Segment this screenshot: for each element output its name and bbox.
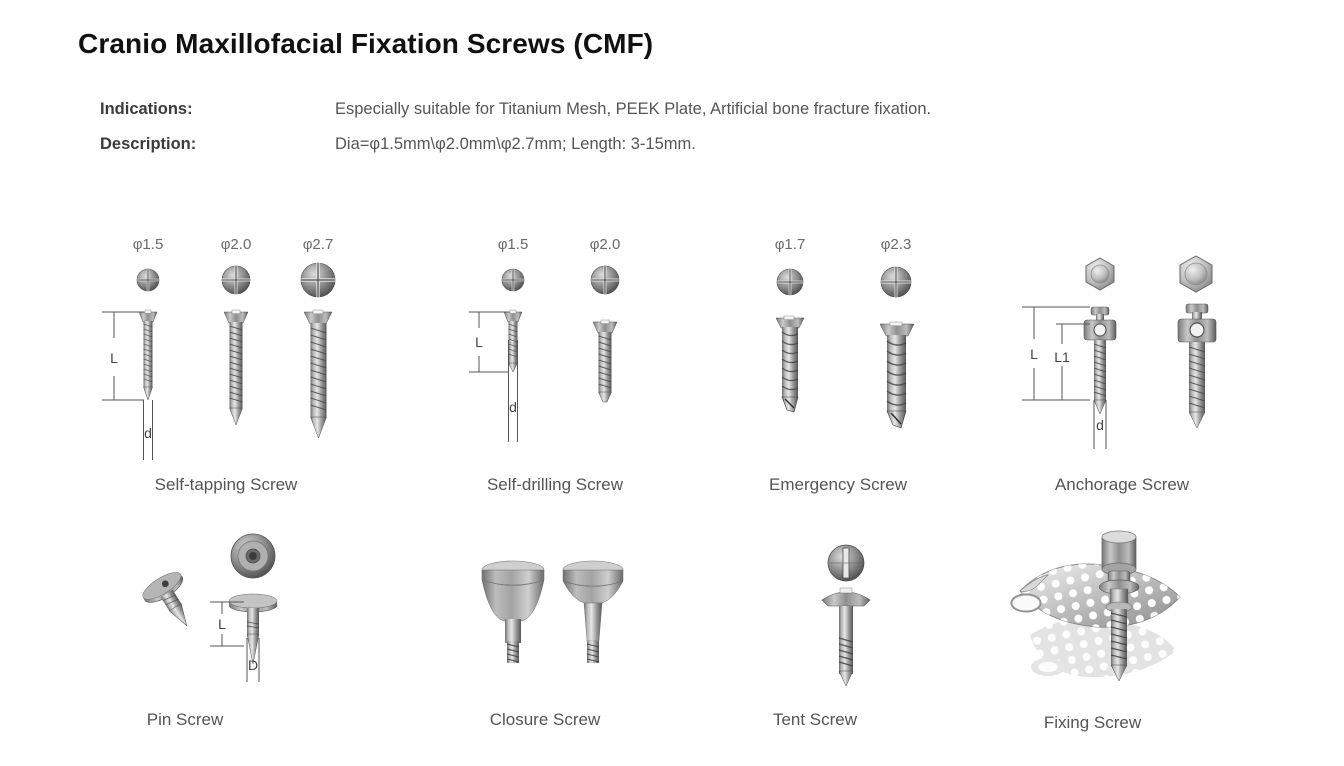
dim-label-sd-L: L — [475, 334, 483, 350]
em-head-topview-1-7 — [777, 269, 803, 295]
caption-closure: Closure Screw — [455, 710, 635, 730]
hex-head-topview-right — [1180, 256, 1212, 292]
dia-label-sd-1-5: φ1.5 — [483, 236, 543, 253]
caption-self-drilling: Self-drilling Screw — [455, 475, 655, 495]
em-screw-side-1-7 — [776, 316, 804, 412]
pin-illustration: L D — [110, 530, 330, 690]
description-value: Dia=φ1.5mm\φ2.0mm\φ2.7mm; Length: 3-15mm… — [335, 135, 696, 154]
dim-label-anchorage-d: d — [1096, 417, 1104, 433]
dim-label-d: d — [144, 425, 152, 441]
self-tapping-illustration: L d — [96, 260, 356, 470]
closure-screw-right — [563, 561, 623, 663]
indications-label: Indications: — [100, 100, 335, 119]
closure-illustration — [460, 545, 640, 690]
indications-value: Especially suitable for Titanium Mesh, P… — [335, 100, 931, 119]
sd-head-topview-2-0 — [591, 266, 619, 294]
dia-label-em-2-3: φ2.3 — [866, 236, 926, 253]
pin-screw-sideview — [229, 594, 277, 664]
tent-illustration — [760, 540, 940, 690]
screw-head-topview-2-7 — [301, 263, 335, 297]
sd-screw-side-2-0 — [593, 320, 617, 402]
dia-label-2-7: φ2.7 — [288, 236, 348, 253]
group-anchorage: L L1 d Anchorage Screw — [1012, 232, 1232, 502]
caption-fixing: Fixing Screw — [985, 713, 1200, 733]
group-closure: Closure Screw — [460, 545, 640, 740]
tent-screw-sideview — [822, 588, 870, 686]
hex-head-topview-left — [1086, 258, 1114, 290]
dim-label-pin-L: L — [218, 616, 226, 632]
caption-anchorage: Anchorage Screw — [1012, 475, 1232, 495]
sd-head-topview-1-5 — [502, 269, 524, 291]
group-self-drilling: φ1.5 φ2.0 — [455, 232, 655, 502]
group-emergency: φ1.7 φ2.3 — [738, 232, 938, 502]
group-tent: Tent Screw — [760, 540, 940, 740]
product-sheet: Cranio Maxillofacial Fixation Screws (CM… — [0, 0, 1344, 766]
screw-side-2-7 — [304, 310, 332, 438]
caption-emergency: Emergency Screw — [738, 475, 938, 495]
sd-screw-side-1-5 — [504, 310, 522, 372]
group-fixing: Fixing Screw — [990, 525, 1205, 740]
dia-label-sd-2-0: φ2.0 — [575, 236, 635, 253]
dim-label-pin-D: D — [248, 657, 258, 673]
dim-label-sd-d: d — [509, 399, 517, 415]
caption-tent: Tent Screw — [725, 710, 905, 730]
screw-side-1-5 — [139, 310, 157, 400]
screw-side-2-0 — [224, 310, 248, 425]
caption-pin: Pin Screw — [75, 710, 295, 730]
group-self-tapping: φ1.5 φ2.0 φ2.7 — [96, 232, 356, 502]
dim-label-anchorage-L: L — [1030, 346, 1038, 362]
dia-label-em-1-7: φ1.7 — [760, 236, 820, 253]
description-row: Description: Dia=φ1.5mm\φ2.0mm\φ2.7mm; L… — [100, 135, 931, 154]
pin-screw-tilted — [139, 567, 205, 637]
fixing-illustration — [990, 525, 1205, 700]
dia-label-2-0: φ2.0 — [206, 236, 266, 253]
specification-block: Indications: Especially suitable for Tit… — [100, 100, 931, 170]
tent-head-topview — [828, 545, 864, 581]
screw-head-topview-1-5 — [137, 269, 159, 291]
em-screw-side-2-3 — [880, 322, 914, 428]
anchorage-screw-right — [1178, 304, 1216, 428]
screw-head-topview-2-0 — [222, 266, 250, 294]
caption-self-tapping: Self-tapping Screw — [96, 475, 356, 495]
anchorage-screw-left — [1084, 307, 1116, 414]
pin-screw-topview — [231, 534, 275, 578]
indications-row: Indications: Especially suitable for Tit… — [100, 100, 931, 119]
group-pin: L D Pin Screw — [110, 530, 330, 740]
anchorage-illustration: L L1 d — [1012, 244, 1232, 454]
emergency-illustration — [738, 260, 938, 470]
titanium-mesh-plate — [1012, 564, 1180, 627]
description-label: Description: — [100, 135, 335, 154]
dim-label-anchorage-L1: L1 — [1054, 349, 1070, 365]
page-title: Cranio Maxillofacial Fixation Screws (CM… — [78, 28, 653, 60]
self-drilling-illustration: L d — [455, 260, 655, 470]
dim-label-L: L — [110, 350, 118, 366]
dia-label-1-5: φ1.5 — [118, 236, 178, 253]
em-head-topview-2-3 — [881, 267, 911, 297]
closure-screw-left — [482, 561, 544, 663]
